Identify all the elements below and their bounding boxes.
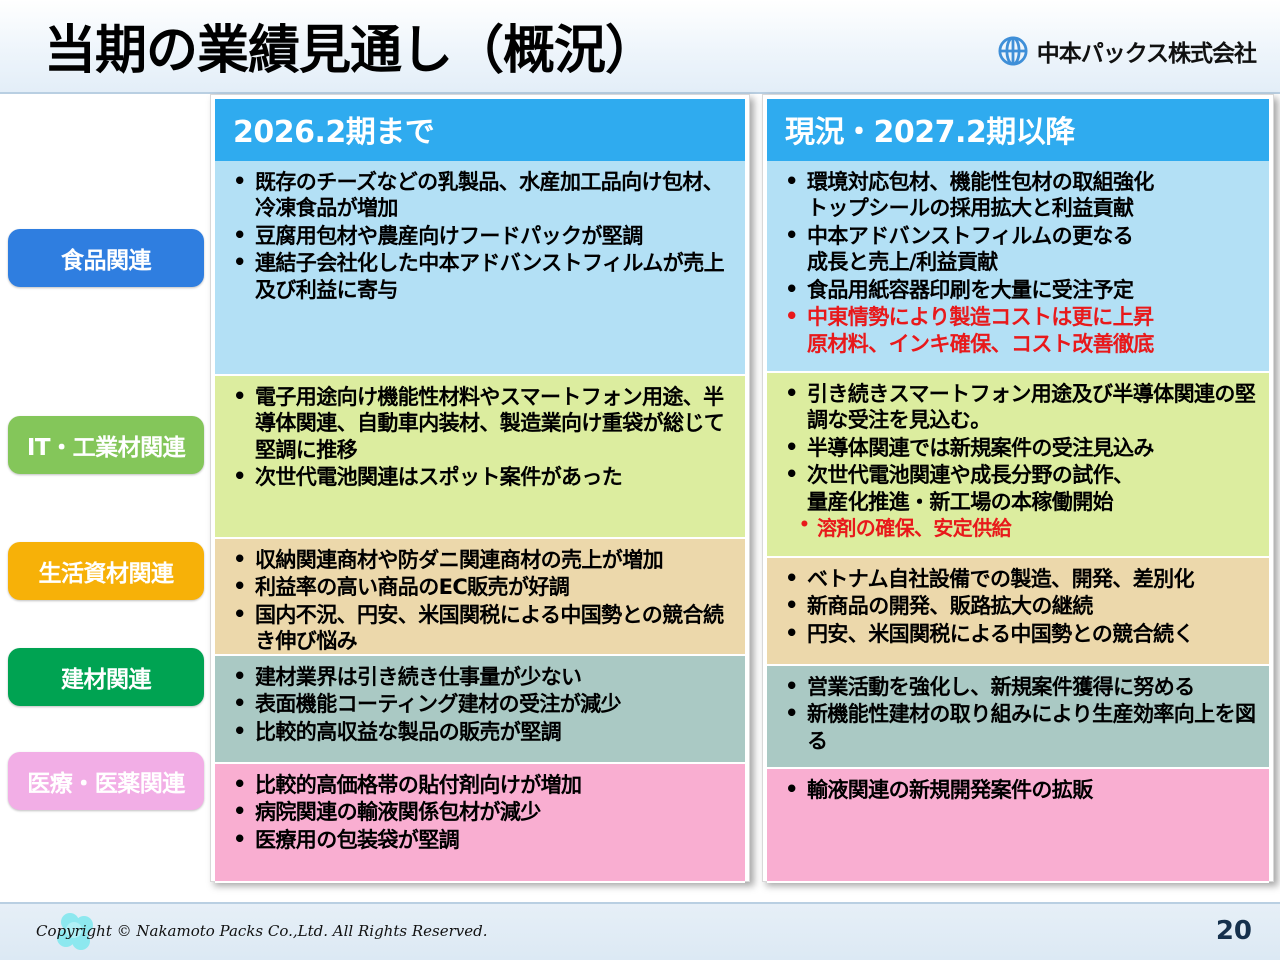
bullet-line: 営業活動を強化し、新規案件獲得に努める (807, 674, 1261, 700)
bullet-line: 中東情勢により製造コストは更に上昇 (807, 304, 1261, 330)
bullet-line: 病院関連の輸液関係包材が減少 (255, 799, 737, 825)
bullet-item: 比較的高収益な製品の販売が堅調 (225, 719, 737, 745)
bullet-item: 連結子会社化した中本アドバンストフィルムが売上及び利益に寄与 (225, 250, 737, 303)
section-right-2: 引き続きスマートフォン用途及び半導体関連の堅調な受注を見込む。半導体関連では新規… (767, 373, 1269, 558)
bullet-line: ベトナム自社設備での製造、開発、差別化 (807, 566, 1261, 592)
bullet-item: 食品用紙容器印刷を大量に受注予定 (777, 277, 1261, 303)
page-title: 当期の業績見通し（概況） (44, 8, 656, 83)
bullet-item: 医療用の包装袋が堅調 (225, 827, 737, 853)
column-left-heading: 2026.2期まで (215, 99, 745, 161)
bullet-list: 輸液関連の新規開発案件の拡販 (777, 777, 1261, 803)
bullet-item: 半導体関連では新規案件の受注見込み (777, 435, 1261, 461)
bullet-line: 既存のチーズなどの乳製品、水産加工品向け包材、冷凍食品が増加 (255, 169, 737, 222)
bullet-item: ベトナム自社設備での製造、開発、差別化 (777, 566, 1261, 592)
category-label-2: IT・工業材関連 (8, 416, 204, 474)
bullet-line: 次世代電池関連はスポット案件があった (255, 464, 737, 490)
bullet-item: 環境対応包材、機能性包材の取組強化トップシールの採用拡大と利益貢献 (777, 169, 1261, 222)
bullet-line: 新機能性建材の取り組みにより生産効率向上を図る (807, 701, 1261, 754)
bullet-item: 豆腐用包材や農産向けフードパックが堅調 (225, 223, 737, 249)
bullet-list: 収納関連商材や防ダニ関連商材の売上が増加利益率の高い商品のEC販売が好調国内不況… (225, 547, 737, 655)
content-stage: 食品関連IT・工業材関連生活資材関連建材関連医療・医薬関連 2026.2期まで … (0, 94, 1280, 902)
bullet-item: 中本アドバンストフィルムの更なる成長と売上/利益貢献 (777, 223, 1261, 276)
nakamoto-globe-icon (998, 36, 1028, 66)
company-name: 中本パックス株式会社 (1037, 34, 1256, 68)
section-right-4: 営業活動を強化し、新規案件獲得に努める新機能性建材の取り組みにより生産効率向上を… (767, 666, 1269, 769)
bullet-item: 表面機能コーティング建材の受注が減少 (225, 691, 737, 717)
copyright-text: Copyright © Nakamoto Packs Co.,Ltd. All … (36, 922, 487, 940)
bullet-line: 医療用の包装袋が堅調 (255, 827, 737, 853)
bullet-line: 成長と売上/利益貢献 (807, 249, 1261, 275)
bullet-item: 利益率の高い商品のEC販売が好調 (225, 574, 737, 600)
category-label-1: 食品関連 (8, 229, 204, 287)
bullet-line: 連結子会社化した中本アドバンストフィルムが売上及び利益に寄与 (255, 250, 737, 303)
bullet-line: 溶剤の確保、安定供給 (817, 516, 1261, 541)
bullet-item: 営業活動を強化し、新規案件獲得に努める (777, 674, 1261, 700)
bullet-line: 電子用途向け機能性材料やスマートフォン用途、半導体関連、自動車内装材、製造業向け… (255, 384, 737, 463)
slide-header: 当期の業績見通し（概況） 中本パックス株式会社 (0, 0, 1280, 94)
bullet-list: ベトナム自社設備での製造、開発、差別化新商品の開発、販路拡大の継続円安、米国関税… (777, 566, 1261, 647)
bullet-line: 環境対応包材、機能性包材の取組強化 (807, 169, 1261, 195)
bullet-item: 中東情勢により製造コストは更に上昇原材料、インキ確保、コスト改善徹底 (777, 304, 1261, 357)
bullet-line: 比較的高収益な製品の販売が堅調 (255, 719, 737, 745)
bullet-item: 輸液関連の新規開発案件の拡販 (777, 777, 1261, 803)
bullet-line: 中本アドバンストフィルムの更なる (807, 223, 1261, 249)
bullet-item: 比較的高価格帯の貼付剤向けが増加 (225, 772, 737, 798)
bullet-item: 国内不況、円安、米国関税による中国勢との競合続き伸び悩み (225, 602, 737, 655)
bullet-item: 次世代電池関連や成長分野の試作、量産化推進・新工場の本稼働開始 (777, 462, 1261, 515)
bullet-line: 豆腐用包材や農産向けフードパックが堅調 (255, 223, 737, 249)
page-number: 20 (1216, 916, 1252, 946)
column-past-outlook: 2026.2期まで 既存のチーズなどの乳製品、水産加工品向け包材、冷凍食品が増加… (210, 94, 750, 882)
category-label-3: 生活資材関連 (8, 542, 204, 600)
bullet-list: 電子用途向け機能性材料やスマートフォン用途、半導体関連、自動車内装材、製造業向け… (225, 384, 737, 491)
bullet-list: 比較的高価格帯の貼付剤向けが増加病院関連の輸液関係包材が減少医療用の包装袋が堅調 (225, 772, 737, 853)
bullet-item: 収納関連商材や防ダニ関連商材の売上が増加 (225, 547, 737, 573)
section-right-1: 環境対応包材、機能性包材の取組強化トップシールの採用拡大と利益貢献中本アドバンス… (767, 161, 1269, 373)
column-current-outlook: 現況・2027.2期以降 環境対応包材、機能性包材の取組強化トップシールの採用拡… (762, 94, 1274, 882)
section-right-3: ベトナム自社設備での製造、開発、差別化新商品の開発、販路拡大の継続円安、米国関税… (767, 558, 1269, 666)
bullet-line: 引き続きスマートフォン用途及び半導体関連の堅調な受注を見込む。 (807, 381, 1261, 434)
bullet-list: 既存のチーズなどの乳製品、水産加工品向け包材、冷凍食品が増加豆腐用包材や農産向け… (225, 169, 737, 303)
bullet-list: 営業活動を強化し、新規案件獲得に努める新機能性建材の取り組みにより生産効率向上を… (777, 674, 1261, 754)
section-left-2: 電子用途向け機能性材料やスマートフォン用途、半導体関連、自動車内装材、製造業向け… (215, 376, 745, 539)
bullet-line: トップシールの採用拡大と利益貢献 (807, 195, 1261, 221)
section-right-5: 輸液関連の新規開発案件の拡販 (767, 769, 1269, 883)
section-left-3: 収納関連商材や防ダニ関連商材の売上が増加利益率の高い商品のEC販売が好調国内不況… (215, 539, 745, 656)
column-right-sections: 環境対応包材、機能性包材の取組強化トップシールの採用拡大と利益貢献中本アドバンス… (767, 161, 1269, 883)
bullet-line: 建材業界は引き続き仕事量が少ない (255, 664, 737, 690)
category-label-5: 医療・医薬関連 (8, 752, 204, 810)
column-right-heading: 現況・2027.2期以降 (767, 99, 1269, 161)
bullet-line: 次世代電池関連や成長分野の試作、 (807, 462, 1261, 488)
bullet-item: 次世代電池関連はスポット案件があった (225, 464, 737, 490)
bullet-item: 病院関連の輸液関係包材が減少 (225, 799, 737, 825)
category-label-column: 食品関連IT・工業材関連生活資材関連建材関連医療・医薬関連 (0, 94, 210, 902)
section-left-4: 建材業界は引き続き仕事量が少ない表面機能コーティング建材の受注が減少比較的高収益… (215, 656, 745, 764)
category-label-4: 建材関連 (8, 648, 204, 706)
bullet-line: 輸液関連の新規開発案件の拡販 (807, 777, 1261, 803)
bullet-line: 収納関連商材や防ダニ関連商材の売上が増加 (255, 547, 737, 573)
section-left-5: 比較的高価格帯の貼付剤向けが増加病院関連の輸液関係包材が減少医療用の包装袋が堅調 (215, 764, 745, 883)
bullet-item: 既存のチーズなどの乳製品、水産加工品向け包材、冷凍食品が増加 (225, 169, 737, 222)
bullet-item: 電子用途向け機能性材料やスマートフォン用途、半導体関連、自動車内装材、製造業向け… (225, 384, 737, 463)
company-branding: 中本パックス株式会社 (998, 34, 1256, 68)
bullet-list: 建材業界は引き続き仕事量が少ない表面機能コーティング建材の受注が減少比較的高収益… (225, 664, 737, 745)
bullet-line: 表面機能コーティング建材の受注が減少 (255, 691, 737, 717)
bullet-item: 引き続きスマートフォン用途及び半導体関連の堅調な受注を見込む。 (777, 381, 1261, 434)
bullet-line: 量産化推進・新工場の本稼働開始 (807, 489, 1261, 515)
bullet-line: 国内不況、円安、米国関税による中国勢との競合続き伸び悩み (255, 602, 737, 655)
column-left-sections: 既存のチーズなどの乳製品、水産加工品向け包材、冷凍食品が増加豆腐用包材や農産向け… (215, 161, 745, 883)
bullet-line: 原材料、インキ確保、コスト改善徹底 (807, 331, 1261, 357)
bullet-line: 食品用紙容器印刷を大量に受注予定 (807, 277, 1261, 303)
bullet-list: 引き続きスマートフォン用途及び半導体関連の堅調な受注を見込む。半導体関連では新規… (777, 381, 1261, 541)
slide-footer: Copyright © Nakamoto Packs Co.,Ltd. All … (0, 902, 1280, 960)
bullet-line: 半導体関連では新規案件の受注見込み (807, 435, 1261, 461)
bullet-line: 比較的高価格帯の貼付剤向けが増加 (255, 772, 737, 798)
bullet-item: 建材業界は引き続き仕事量が少ない (225, 664, 737, 690)
bullet-item: 新商品の開発、販路拡大の継続 (777, 593, 1261, 619)
bullet-list: 環境対応包材、機能性包材の取組強化トップシールの採用拡大と利益貢献中本アドバンス… (777, 169, 1261, 357)
bullet-line: 利益率の高い商品のEC販売が好調 (255, 574, 737, 600)
bullet-item: 新機能性建材の取り組みにより生産効率向上を図る (777, 701, 1261, 754)
bullet-item: 円安、米国関税による中国勢との競合続く (777, 621, 1261, 647)
section-left-1: 既存のチーズなどの乳製品、水産加工品向け包材、冷凍食品が増加豆腐用包材や農産向け… (215, 161, 745, 376)
bullet-line: 円安、米国関税による中国勢との競合続く (807, 621, 1261, 647)
bullet-line: 新商品の開発、販路拡大の継続 (807, 593, 1261, 619)
bullet-item: 溶剤の確保、安定供給 (777, 516, 1261, 541)
